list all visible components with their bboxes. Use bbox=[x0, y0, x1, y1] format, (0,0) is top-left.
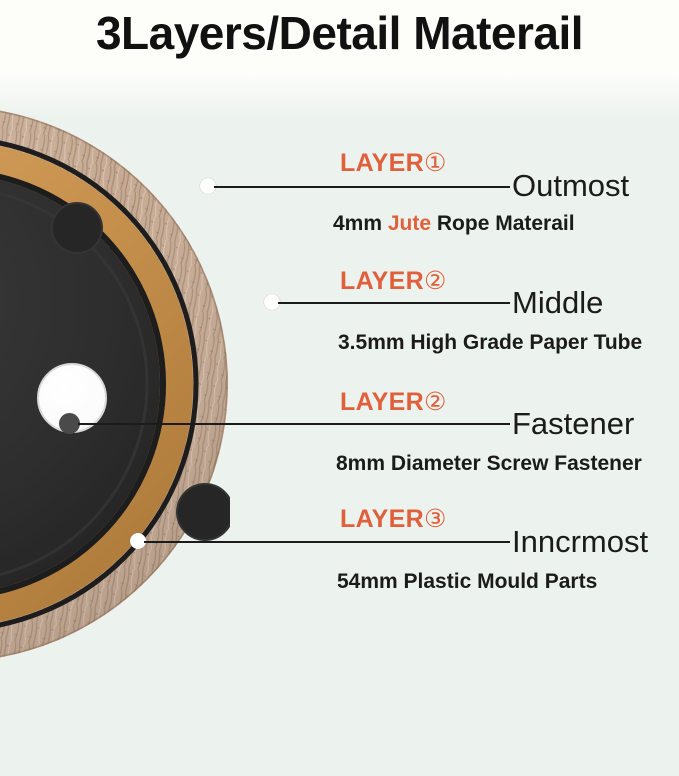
callout-layer-2-number: ② bbox=[424, 267, 447, 295]
callout-layer-1-detail: 4mm Jute Rope Materail bbox=[333, 212, 575, 236]
callout-layer-3-number: ② bbox=[424, 388, 447, 416]
callout-layer-4-headline: Inncrmost bbox=[512, 524, 648, 560]
infographic-page: 3Layers/Detail Materail bbox=[0, 0, 679, 776]
mould-boss-bottom bbox=[177, 484, 230, 540]
leader-line-3 bbox=[78, 423, 510, 425]
callout-marker-fastener bbox=[59, 413, 80, 434]
product-cross-section-image bbox=[0, 104, 230, 664]
callout-layer-4-detail: 54mm Plastic Mould Parts bbox=[337, 570, 597, 594]
callout-layer-2-tag: LAYER② bbox=[340, 266, 447, 296]
callout-layer-1-detail-suffix: Rope Materail bbox=[431, 212, 575, 235]
callout-layer-1-tag-text: LAYER bbox=[340, 149, 424, 177]
callout-layer-2-detail-prefix: 3.5mm High Grade Paper Tube bbox=[338, 331, 642, 354]
callout-layer-4-detail-prefix: 54mm Plastic Mould Parts bbox=[337, 570, 597, 593]
callout-layer-2-headline: Middle bbox=[512, 285, 603, 321]
callout-layer-3-detail-prefix: 8mm Diameter Screw Fastener bbox=[336, 452, 642, 475]
callout-layer-1-tag: LAYER① bbox=[340, 148, 447, 178]
callout-layer-1-number: ① bbox=[424, 149, 447, 177]
callout-layer-3-tag-text: LAYER bbox=[340, 388, 424, 416]
callout-layer-2-detail: 3.5mm High Grade Paper Tube bbox=[338, 331, 642, 355]
mould-boss-top bbox=[52, 203, 102, 253]
leader-line-4 bbox=[144, 541, 510, 543]
leader-line-1 bbox=[214, 186, 510, 188]
leader-line-2 bbox=[278, 302, 510, 304]
callout-layer-3-detail: 8mm Diameter Screw Fastener bbox=[336, 452, 642, 476]
callout-layer-4-tag-text: LAYER bbox=[340, 505, 424, 533]
callout-layer-1-detail-highlight: Jute bbox=[388, 212, 431, 235]
callout-layer-4-number: ③ bbox=[424, 505, 447, 533]
callout-layer-4-tag: LAYER③ bbox=[340, 504, 447, 534]
page-title: 3Layers/Detail Materail bbox=[0, 2, 679, 64]
callout-layer-1-headline: Outmost bbox=[512, 168, 629, 204]
callout-layer-2-tag-text: LAYER bbox=[340, 267, 424, 295]
callout-layer-3-headline: Fastener bbox=[512, 406, 634, 442]
callout-layer-1-detail-prefix: 4mm bbox=[333, 212, 388, 235]
callout-layer-3-tag: LAYER② bbox=[340, 387, 447, 417]
